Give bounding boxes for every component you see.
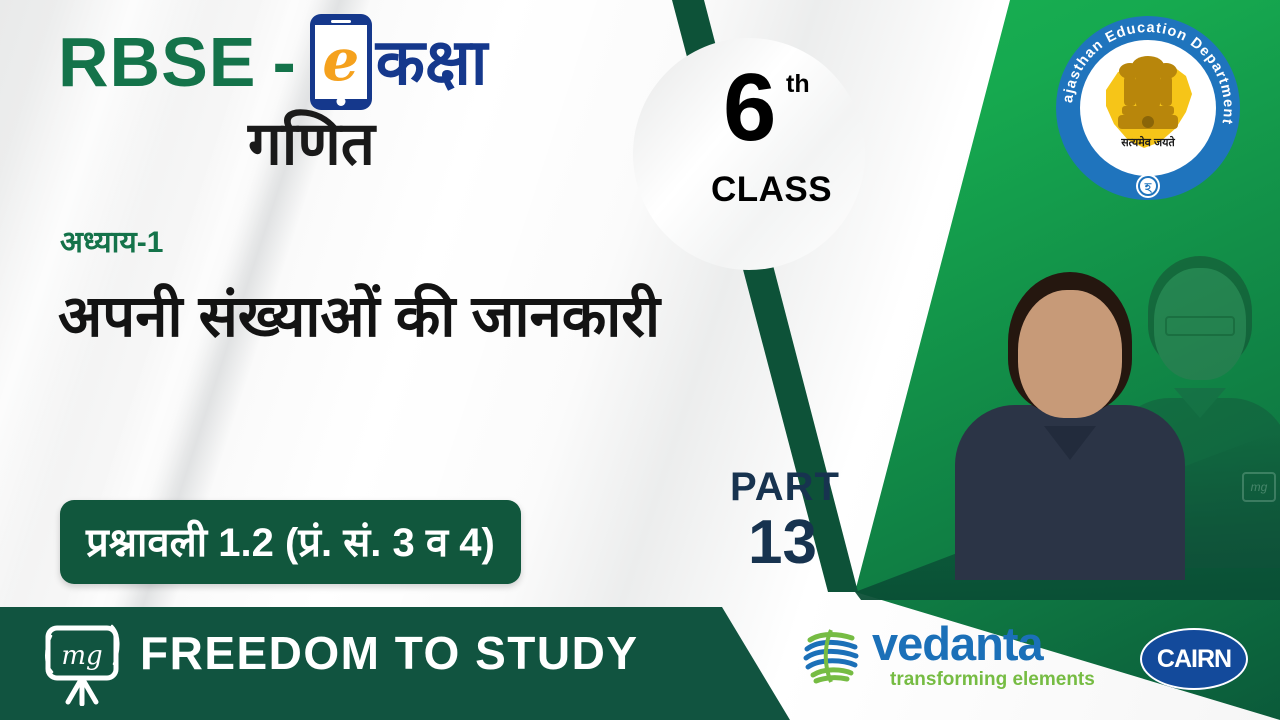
- class-ordinal-suffix: th: [786, 72, 810, 97]
- vedanta-wordmark: vedanta: [872, 622, 1095, 667]
- cairn-wordmark: CAIRN: [1157, 647, 1231, 672]
- part-label: PART: [730, 467, 840, 507]
- phone-home-button-icon: [336, 97, 345, 106]
- easel-legs-icon: [68, 678, 96, 704]
- chapter-title: अपनी संख्याओं की जानकारी: [58, 282, 698, 353]
- video-thumbnail: mg RBSE - e कक्षा गणित अध्याय-1 अपनी संख…: [0, 0, 1280, 720]
- seal-bottom-glyph-icon: হ: [1136, 174, 1160, 198]
- exercise-badge: प्रश्नावली 1.2 (प्रं. सं. 3 व 4): [60, 500, 521, 584]
- teacher-photo-primary: [955, 268, 1185, 580]
- footer-tagline: FREEDOM TO STUDY: [140, 630, 639, 676]
- brand-rbse-text: RBSE: [58, 27, 256, 97]
- vedanta-tagline: transforming elements: [890, 670, 1095, 689]
- brand-lockup: RBSE - e कक्षा: [58, 14, 487, 110]
- vedanta-logo: vedanta transforming elements: [800, 622, 1095, 689]
- vedanta-globe-icon: [800, 624, 862, 686]
- chapter-label: अध्याय-1: [60, 228, 163, 258]
- ashoka-emblem-icon: [1118, 56, 1178, 129]
- class-label: CLASS: [711, 172, 832, 207]
- mg-monogram: mg: [61, 641, 102, 671]
- subject-title: गणित: [248, 114, 375, 174]
- seal-motto: सत्यमेव जयते: [1120, 135, 1175, 149]
- phone-speaker-icon: [331, 20, 351, 23]
- phone-screen: e: [315, 25, 367, 99]
- class-number: 6: [723, 60, 776, 156]
- rajasthan-education-department-seal: सत्यमेव जयते Rajasthan Education Departm…: [1048, 8, 1248, 208]
- part-number: 13: [748, 512, 817, 574]
- cairn-logo: CAIRN: [1140, 628, 1248, 690]
- brand-kaksha-text: कक्षा: [376, 30, 488, 94]
- e-letter-glyph: e: [322, 31, 359, 89]
- brand-dash: -: [272, 27, 295, 97]
- mg-blackboard-logo: mg: [38, 620, 126, 706]
- polo-logo-icon: mg: [1242, 472, 1276, 502]
- mobile-phone-icon: e: [310, 14, 372, 110]
